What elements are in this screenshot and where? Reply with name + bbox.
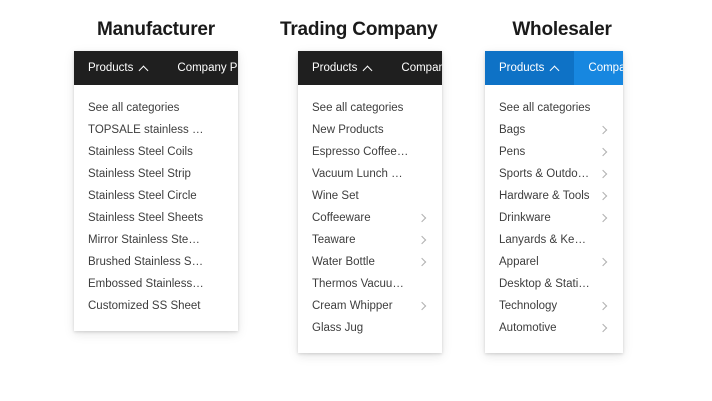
menu-item-label: Cream Whipper bbox=[312, 300, 393, 312]
menu-item-label: Wine Set bbox=[312, 190, 359, 202]
chevron-right-icon bbox=[418, 257, 428, 267]
menu-item[interactable]: Teaware bbox=[298, 229, 442, 251]
nav-tab-company-manufacturer[interactable]: Company Profile bbox=[163, 51, 238, 85]
nav-tab-products-trading-company[interactable]: Products bbox=[298, 51, 387, 85]
chevron-right-icon bbox=[599, 235, 609, 245]
chevron-right-icon bbox=[418, 125, 428, 135]
column-trading-company: Trading Company Products Company See all… bbox=[298, 20, 442, 353]
menu-item-label: See all categories bbox=[499, 102, 590, 114]
menu-item-label: Hardware & Tools bbox=[499, 190, 590, 202]
menu-item-label: Espresso Coffee Maker bbox=[312, 146, 410, 158]
menu-item[interactable]: Drinkware bbox=[485, 207, 623, 229]
menu-item-label: New Products bbox=[312, 124, 384, 136]
menu-item-label: Automotive bbox=[499, 322, 557, 334]
menu-item[interactable]: See all categories bbox=[485, 97, 623, 119]
nav-tab-products-wholesaler[interactable]: Products bbox=[485, 51, 574, 85]
chevron-right-icon bbox=[418, 147, 428, 157]
chevron-right-icon bbox=[599, 103, 609, 113]
column-title-trading-company: Trading Company bbox=[280, 20, 424, 39]
menu-item[interactable]: Sports & Outdoors bbox=[485, 163, 623, 185]
menu-item-label: Pens bbox=[499, 146, 525, 158]
nav-tab-label-company: Compan bbox=[588, 62, 623, 74]
chevron-right-icon bbox=[214, 235, 224, 245]
menu-item-label: TOPSALE stainless steel bbox=[88, 124, 206, 136]
column-title-wholesaler: Wholesaler bbox=[493, 20, 631, 39]
menu-item[interactable]: Desktop & Stationery bbox=[485, 273, 623, 295]
chevron-right-icon bbox=[599, 257, 609, 267]
menu-item-label: Stainless Steel Coils bbox=[88, 146, 193, 158]
menu-item[interactable]: Embossed Stainless Steel ... bbox=[74, 273, 238, 295]
menu-item[interactable]: Wine Set bbox=[298, 185, 442, 207]
menu-item-label: Customized SS Sheet bbox=[88, 300, 201, 312]
nav-bar-wholesaler: Products Compan bbox=[485, 51, 623, 85]
menu-item[interactable]: New Products bbox=[298, 119, 442, 141]
menu-item-label: Stainless Steel Circle bbox=[88, 190, 197, 202]
menu-item-label: Vacuum Lunch Box bbox=[312, 168, 410, 180]
menu-item[interactable]: Bags bbox=[485, 119, 623, 141]
chevron-right-icon bbox=[599, 323, 609, 333]
menu-item[interactable]: TOPSALE stainless steel bbox=[74, 119, 238, 141]
chevron-right-icon bbox=[418, 235, 428, 245]
menu-item[interactable]: Customized SS Sheet bbox=[74, 295, 238, 317]
chevron-right-icon bbox=[599, 125, 609, 135]
chevron-right-icon bbox=[418, 323, 428, 333]
menu-item-label: Stainless Steel Sheets bbox=[88, 212, 203, 224]
chevron-right-icon bbox=[599, 213, 609, 223]
column-manufacturer: Manufacturer Products Company Profile Se… bbox=[74, 20, 238, 331]
chevron-right-icon bbox=[418, 279, 428, 289]
chevron-right-icon bbox=[214, 103, 224, 113]
menu-list-trading-company: See all categories New Products Espresso… bbox=[298, 85, 442, 353]
caret-up-icon bbox=[551, 64, 560, 73]
menu-item[interactable]: Automotive bbox=[485, 317, 623, 339]
nav-bar-trading-company: Products Company bbox=[298, 51, 442, 85]
chevron-right-icon bbox=[418, 103, 428, 113]
menu-item-label: See all categories bbox=[312, 102, 403, 114]
menu-card-wholesaler: Products Compan See all categories Bags … bbox=[485, 51, 623, 353]
menu-item[interactable]: Stainless Steel Circle bbox=[74, 185, 238, 207]
nav-bar-manufacturer: Products Company Profile bbox=[74, 51, 238, 85]
menu-item[interactable]: Thermos Vacuum Flask bbox=[298, 273, 442, 295]
chevron-right-icon bbox=[214, 301, 224, 311]
menu-item[interactable]: See all categories bbox=[74, 97, 238, 119]
menu-item[interactable]: Water Bottle bbox=[298, 251, 442, 273]
nav-tab-label-products: Products bbox=[499, 62, 544, 74]
menu-item[interactable]: Espresso Coffee Maker bbox=[298, 141, 442, 163]
chevron-right-icon bbox=[599, 301, 609, 311]
menu-item-label: Embossed Stainless Steel ... bbox=[88, 278, 206, 290]
menu-item-label: See all categories bbox=[88, 102, 179, 114]
menu-item-label: Brushed Stainless Steel Sh... bbox=[88, 256, 206, 268]
menu-item-label: Teaware bbox=[312, 234, 355, 246]
chevron-right-icon bbox=[418, 213, 428, 223]
menu-item-label: Technology bbox=[499, 300, 557, 312]
menu-item[interactable]: Stainless Steel Sheets bbox=[74, 207, 238, 229]
menu-item[interactable]: See all categories bbox=[298, 97, 442, 119]
nav-tab-label-products: Products bbox=[88, 62, 133, 74]
menu-item-label: Drinkware bbox=[499, 212, 551, 224]
menu-item[interactable]: Brushed Stainless Steel Sh... bbox=[74, 251, 238, 273]
chevron-right-icon bbox=[214, 147, 224, 157]
menu-item-label: Lanyards & Keychains bbox=[499, 234, 591, 246]
menu-item[interactable]: Apparel bbox=[485, 251, 623, 273]
chevron-right-icon bbox=[599, 191, 609, 201]
menu-list-wholesaler: See all categories Bags Pens Sports & Ou… bbox=[485, 85, 623, 353]
menu-card-trading-company: Products Company See all categories New … bbox=[298, 51, 442, 353]
menu-item-label: Glass Jug bbox=[312, 322, 363, 334]
menu-item-label: Desktop & Stationery bbox=[499, 278, 591, 290]
chevron-right-icon bbox=[214, 125, 224, 135]
chevron-right-icon bbox=[214, 257, 224, 267]
menu-item-label: Stainless Steel Strip bbox=[88, 168, 191, 180]
chevron-right-icon bbox=[599, 147, 609, 157]
menu-item-label: Water Bottle bbox=[312, 256, 375, 268]
nav-tab-label-company: Company bbox=[401, 62, 442, 74]
menu-item[interactable]: Hardware & Tools bbox=[485, 185, 623, 207]
menu-item[interactable]: Pens bbox=[485, 141, 623, 163]
menu-item[interactable]: Cream Whipper bbox=[298, 295, 442, 317]
menu-item[interactable]: Vacuum Lunch Box bbox=[298, 163, 442, 185]
chevron-right-icon bbox=[214, 279, 224, 289]
menu-item-label: Apparel bbox=[499, 256, 539, 268]
caret-up-icon bbox=[140, 64, 149, 73]
menu-item[interactable]: Lanyards & Keychains bbox=[485, 229, 623, 251]
nav-tab-label-products: Products bbox=[312, 62, 357, 74]
menu-card-manufacturer: Products Company Profile See all categor… bbox=[74, 51, 238, 331]
chevron-right-icon bbox=[599, 169, 609, 179]
chevron-right-icon bbox=[214, 169, 224, 179]
nav-tab-company-trading-company[interactable]: Company bbox=[387, 51, 442, 85]
menu-item[interactable]: Stainless Steel Coils bbox=[74, 141, 238, 163]
menu-item[interactable]: Glass Jug bbox=[298, 317, 442, 339]
menu-item-label: Coffeeware bbox=[312, 212, 371, 224]
chevron-right-icon bbox=[599, 279, 609, 289]
menu-list-manufacturer: See all categories TOPSALE stainless ste… bbox=[74, 85, 238, 331]
menu-item-label: Sports & Outdoors bbox=[499, 168, 591, 180]
chevron-right-icon bbox=[418, 301, 428, 311]
nav-tab-company-wholesaler[interactable]: Compan bbox=[574, 51, 623, 85]
menu-item[interactable]: Coffeeware bbox=[298, 207, 442, 229]
menu-item-label: Mirror Stainless Steel Sheet bbox=[88, 234, 206, 246]
menu-item[interactable]: Stainless Steel Strip bbox=[74, 163, 238, 185]
menu-item-label: Bags bbox=[499, 124, 525, 136]
column-title-manufacturer: Manufacturer bbox=[74, 20, 238, 39]
nav-tab-label-company: Company Profile bbox=[177, 62, 238, 74]
nav-tab-products-manufacturer[interactable]: Products bbox=[74, 51, 163, 85]
chevron-right-icon bbox=[418, 191, 428, 201]
menu-comparison-stage: Manufacturer Products Company Profile Se… bbox=[0, 0, 712, 401]
chevron-right-icon bbox=[214, 213, 224, 223]
menu-item[interactable]: Technology bbox=[485, 295, 623, 317]
menu-item[interactable]: Mirror Stainless Steel Sheet bbox=[74, 229, 238, 251]
caret-up-icon bbox=[364, 64, 373, 73]
chevron-right-icon bbox=[214, 191, 224, 201]
column-wholesaler: Wholesaler Products Compan See all categ… bbox=[485, 20, 631, 353]
menu-item-label: Thermos Vacuum Flask bbox=[312, 278, 410, 290]
chevron-right-icon bbox=[418, 169, 428, 179]
